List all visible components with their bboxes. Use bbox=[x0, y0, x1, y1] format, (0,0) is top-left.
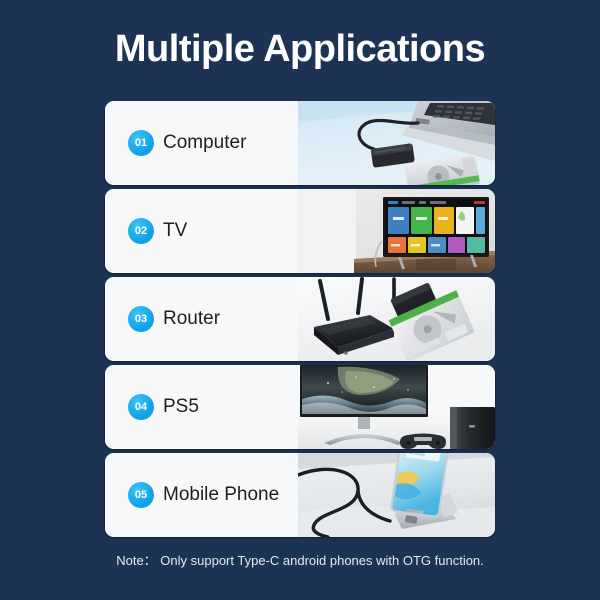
laptop-with-sata-adapter-and-hard-drive-photo bbox=[298, 101, 495, 185]
monitor-ps5-console-and-controller-photo bbox=[298, 365, 495, 449]
list-item[interactable]: 01 Computer bbox=[105, 101, 495, 185]
page-title: Multiple Applications bbox=[0, 25, 600, 73]
status-badge: 04 bbox=[128, 394, 154, 420]
tv-scene-illustration bbox=[298, 189, 495, 273]
status-badge: 02 bbox=[128, 218, 154, 244]
application-row-text: 05 Mobile Phone bbox=[105, 453, 298, 537]
application-row-text: 03 Router bbox=[105, 277, 298, 361]
footnote: Note： Only support Type-C android phones… bbox=[0, 550, 600, 569]
application-showcase-page: Multiple Applications 01 Computer bbox=[0, 0, 600, 600]
list-item[interactable]: 03 Router bbox=[105, 277, 495, 361]
application-label: Router bbox=[163, 277, 220, 361]
application-row-text: 02 TV bbox=[105, 189, 298, 273]
smartphone-on-stand-with-usb-c-cable-photo bbox=[298, 453, 495, 537]
status-badge: 03 bbox=[128, 306, 154, 332]
list-item[interactable]: 05 Mobile Phone bbox=[105, 453, 495, 537]
ps5-scene-illustration bbox=[298, 365, 495, 449]
application-label: Computer bbox=[163, 101, 246, 185]
smart-tv-on-wooden-cabinet-photo bbox=[298, 189, 495, 273]
application-label: PS5 bbox=[163, 365, 199, 449]
status-badge: 01 bbox=[128, 130, 154, 156]
status-badge: 05 bbox=[128, 482, 154, 508]
application-label: TV bbox=[163, 189, 187, 273]
computer-scene-illustration bbox=[298, 101, 495, 185]
application-list: 01 Computer bbox=[105, 101, 495, 541]
application-row-text: 01 Computer bbox=[105, 101, 298, 185]
application-label: Mobile Phone bbox=[163, 453, 279, 537]
application-row-text: 04 PS5 bbox=[105, 365, 298, 449]
wifi-router-with-hard-drive-photo bbox=[298, 277, 495, 361]
list-item[interactable]: 04 PS5 bbox=[105, 365, 495, 449]
mobile-phone-scene-illustration bbox=[298, 453, 495, 537]
list-item[interactable]: 02 TV bbox=[105, 189, 495, 273]
router-scene-illustration bbox=[298, 277, 495, 361]
